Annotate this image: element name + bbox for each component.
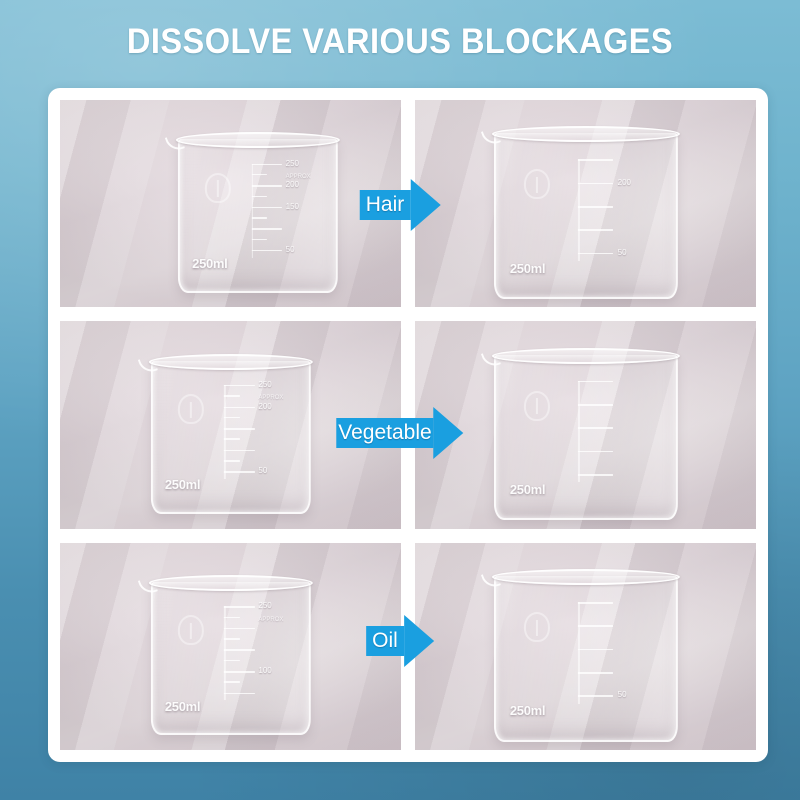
scale-tick-150 <box>252 207 282 209</box>
beaker-rim <box>491 126 679 142</box>
beaker-glass: 250ml <box>493 355 677 521</box>
scale-tick-100 <box>224 671 254 673</box>
scale-tick-minor-c <box>252 217 268 219</box>
scale-tick-200 <box>224 407 254 409</box>
beaker-volume-label: 250ml <box>510 703 545 718</box>
scale-tick-minor-d <box>224 681 240 683</box>
scale-label-50: 50 <box>618 249 627 257</box>
beaker-volume-label: 250ml <box>510 482 545 497</box>
scale-tick-minor-b <box>224 417 240 419</box>
comparison-grid: 250 APPROX 200 150 50 250ml <box>60 100 756 750</box>
beaker-glass: 250 APPROX 100 250ml <box>150 582 310 735</box>
scale-label-approx: APPROX <box>258 394 283 402</box>
scale-tick-250 <box>252 164 282 166</box>
beaker-rim <box>491 569 679 585</box>
scale-tick-100 <box>252 228 282 230</box>
beaker-rim <box>491 348 679 364</box>
scale-label-200: 200 <box>618 179 631 187</box>
beaker-emblem-icon <box>524 391 550 421</box>
beaker-scale: 250 APPROX 100 <box>224 606 290 700</box>
beaker-scale: 50 <box>578 602 654 704</box>
scale-tick-50 <box>224 471 254 473</box>
beaker-scale: 200 50 <box>578 159 654 261</box>
cell-oil-before: 250 APPROX 100 250ml <box>60 543 401 750</box>
scale-vertical-bar <box>578 602 580 704</box>
page-title: DISSOLVE VARIOUS BLOCKAGES <box>28 22 772 62</box>
beaker-glass: 200 50 250ml <box>493 133 677 299</box>
cell-hair-after: 200 50 250ml <box>415 100 756 307</box>
scale-label-approx: APPROX <box>286 173 311 181</box>
beaker-rim <box>148 575 312 591</box>
scale-tick-50 <box>578 253 613 255</box>
scale-tick-200 <box>578 404 613 406</box>
scale-tick-200 <box>224 628 254 630</box>
beaker-scale: 250 APPROX 200 150 50 <box>252 164 318 258</box>
beaker-volume-label: 250ml <box>165 477 200 492</box>
scale-tick-200 <box>578 625 613 627</box>
scale-label-50: 50 <box>258 467 267 475</box>
scale-tick-minor-b <box>224 638 240 640</box>
beaker-volume-label: 250ml <box>192 256 227 271</box>
beaker-glass: 50 250ml <box>493 576 677 742</box>
scale-tick-150 <box>224 649 254 651</box>
scale-tick-minor-d <box>252 239 268 241</box>
scale-tick-250 <box>224 385 254 387</box>
scale-tick-250 <box>224 606 254 608</box>
scale-vertical-bar <box>252 164 254 258</box>
scale-tick-minor-b <box>252 196 268 198</box>
scale-tick-minor-a <box>252 174 268 176</box>
cell-hair-before: 250 APPROX 200 150 50 250ml <box>60 100 401 307</box>
scale-vertical-bar <box>578 381 580 483</box>
scale-tick-50 <box>578 695 613 697</box>
scale-vertical-bar <box>224 385 226 479</box>
beaker-hair-after: 200 50 250ml <box>493 133 677 299</box>
scale-tick-minor-a <box>224 617 240 619</box>
scale-label-250: 250 <box>258 381 271 389</box>
scale-label-250: 250 <box>258 602 271 610</box>
scale-label-250: 250 <box>286 160 299 168</box>
scale-label-100: 100 <box>258 667 271 675</box>
beaker-rim <box>176 132 340 148</box>
beaker-emblem-icon <box>524 169 550 199</box>
scale-vertical-bar <box>578 159 580 261</box>
scale-tick-200 <box>252 185 282 187</box>
scale-label-50: 50 <box>618 691 627 699</box>
scale-tick-50 <box>224 693 254 695</box>
beaker-glass: 250 APPROX 200 50 250ml <box>150 361 310 514</box>
beaker-hair-before: 250 APPROX 200 150 50 250ml <box>178 139 338 292</box>
beaker-glass: 250 APPROX 200 150 50 250ml <box>178 139 338 292</box>
beaker-oil-after: 50 250ml <box>493 576 677 742</box>
scale-tick-100 <box>578 451 613 453</box>
beaker-volume-label: 250ml <box>165 699 200 714</box>
beaker-emblem-icon <box>177 394 203 424</box>
scale-tick-250 <box>578 381 613 383</box>
cell-oil-after: 50 250ml <box>415 543 756 750</box>
beaker-emblem-icon <box>205 173 231 203</box>
scale-label-200: 200 <box>258 403 271 411</box>
beaker-vegetable-before: 250 APPROX 200 50 250ml <box>150 361 310 514</box>
scale-label-200: 200 <box>286 181 299 189</box>
scale-tick-100 <box>578 672 613 674</box>
scale-tick-100 <box>224 450 254 452</box>
scale-tick-250 <box>578 602 613 604</box>
scale-label-150: 150 <box>286 203 299 211</box>
scale-tick-150 <box>224 428 254 430</box>
scale-tick-150 <box>578 649 613 651</box>
beaker-scale <box>578 381 654 483</box>
beaker-emblem-icon <box>524 612 550 642</box>
scale-label-approx: APPROX <box>258 616 283 624</box>
scale-tick-200 <box>578 183 613 185</box>
beaker-scale: 250 APPROX 200 50 <box>224 385 290 479</box>
scale-tick-150 <box>578 427 613 429</box>
beaker-oil-before: 250 APPROX 100 250ml <box>150 582 310 735</box>
beaker-vegetable-after: 250ml <box>493 355 677 521</box>
scale-vertical-bar <box>224 606 226 700</box>
beaker-emblem-icon <box>177 615 203 645</box>
scale-tick-minor-a <box>224 395 240 397</box>
scale-tick-50 <box>578 474 613 476</box>
scale-tick-50 <box>252 250 282 252</box>
cell-vegetable-before: 250 APPROX 200 50 250ml <box>60 321 401 528</box>
scale-tick-250 <box>578 159 613 161</box>
scale-label-50: 50 <box>286 246 295 254</box>
scale-tick-minor-c <box>224 660 240 662</box>
scale-tick-minor-d <box>224 460 240 462</box>
scale-tick-150 <box>578 206 613 208</box>
beaker-rim <box>148 354 312 370</box>
scale-tick-minor-c <box>224 438 240 440</box>
cell-vegetable-after: 250ml <box>415 321 756 528</box>
comparison-frame: 250 APPROX 200 150 50 250ml <box>48 88 768 762</box>
beaker-volume-label: 250ml <box>510 261 545 276</box>
scale-tick-100 <box>578 229 613 231</box>
